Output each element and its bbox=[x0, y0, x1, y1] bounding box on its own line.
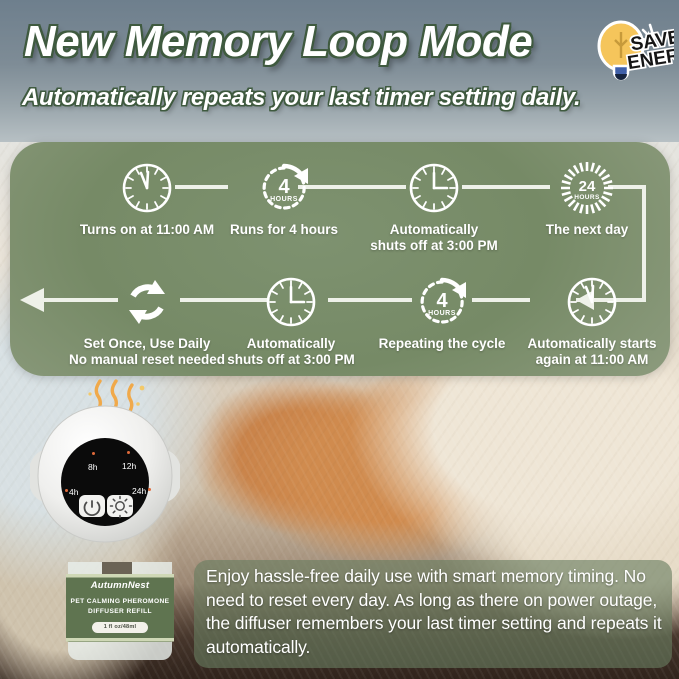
flow-step-2-label: Runs for 4 hours bbox=[204, 222, 364, 238]
flow-step-6: 4 HOURS Repeating the cycle bbox=[358, 274, 526, 352]
svg-text:HOURS: HOURS bbox=[428, 310, 456, 317]
page-title: New Memory Loop Mode bbox=[24, 20, 604, 64]
flow-step-5-label: Automatically starts again at 11:00 AM bbox=[506, 336, 670, 368]
svg-text:HOURS: HOURS bbox=[574, 194, 600, 201]
indicator-dot-24h bbox=[148, 488, 151, 491]
save-energy-badge: SAVE ENERGY bbox=[588, 14, 674, 92]
bottle-label bbox=[66, 574, 174, 642]
indicator-dot-8h bbox=[92, 452, 95, 455]
refill-bottle bbox=[60, 556, 180, 666]
flow-step-2: 4 HOURS Runs for 4 hours bbox=[204, 160, 364, 238]
timer-label-8h[interactable]: 8h bbox=[88, 462, 97, 472]
svg-text:24: 24 bbox=[579, 178, 596, 195]
timer-label-24h[interactable]: 24h bbox=[132, 486, 146, 496]
clock-11-icon bbox=[564, 274, 620, 330]
indicator-dot-4h bbox=[65, 489, 68, 492]
device-timer-labels: 8h 12h 4h 24h bbox=[30, 400, 180, 560]
flow-step-4: 24 HOURS The next day bbox=[512, 160, 662, 238]
clock-11-icon bbox=[119, 160, 175, 216]
timer-label-4h[interactable]: 4h bbox=[69, 487, 78, 497]
svg-text:4: 4 bbox=[278, 176, 290, 198]
promo-image: New Memory Loop Mode Automatically repea… bbox=[0, 0, 679, 679]
clock-3-icon bbox=[263, 274, 319, 330]
timer-4-hours-icon: 4 HOURS bbox=[256, 160, 312, 216]
timer-4-hours-icon: 4 HOURS bbox=[414, 274, 470, 330]
flow-step-8: Set Once, Use Daily No manual reset need… bbox=[56, 274, 238, 368]
indicator-dot-12h bbox=[127, 451, 130, 454]
svg-text:4: 4 bbox=[436, 290, 448, 312]
timer-label-12h[interactable]: 12h bbox=[122, 461, 136, 471]
svg-text:HOURS: HOURS bbox=[270, 196, 298, 203]
memory-loop-flow-panel: Turns on at 11:00 AM 4 HOURS Runs for 4 … bbox=[10, 142, 670, 376]
footer-text: Enjoy hassle-free daily use with smart m… bbox=[206, 565, 668, 660]
arrow-head-left bbox=[20, 288, 44, 312]
flow-step-3: Automatically shuts off at 3:00 PM bbox=[344, 160, 524, 254]
flow-step-6-label: Repeating the cycle bbox=[358, 336, 526, 352]
flow-step-4-label: The next day bbox=[512, 222, 662, 238]
page-subtitle: Automatically repeats your last timer se… bbox=[22, 84, 662, 112]
flow-step-8-label: Set Once, Use Daily No manual reset need… bbox=[56, 336, 238, 368]
clock-3-icon bbox=[406, 160, 462, 216]
flow-step-5: Automatically starts again at 11:00 AM bbox=[506, 274, 670, 368]
timer-24-hours-icon: 24 HOURS bbox=[559, 160, 615, 216]
refresh-cycle-icon bbox=[119, 274, 175, 330]
flow-step-3-label: Automatically shuts off at 3:00 PM bbox=[344, 222, 524, 254]
